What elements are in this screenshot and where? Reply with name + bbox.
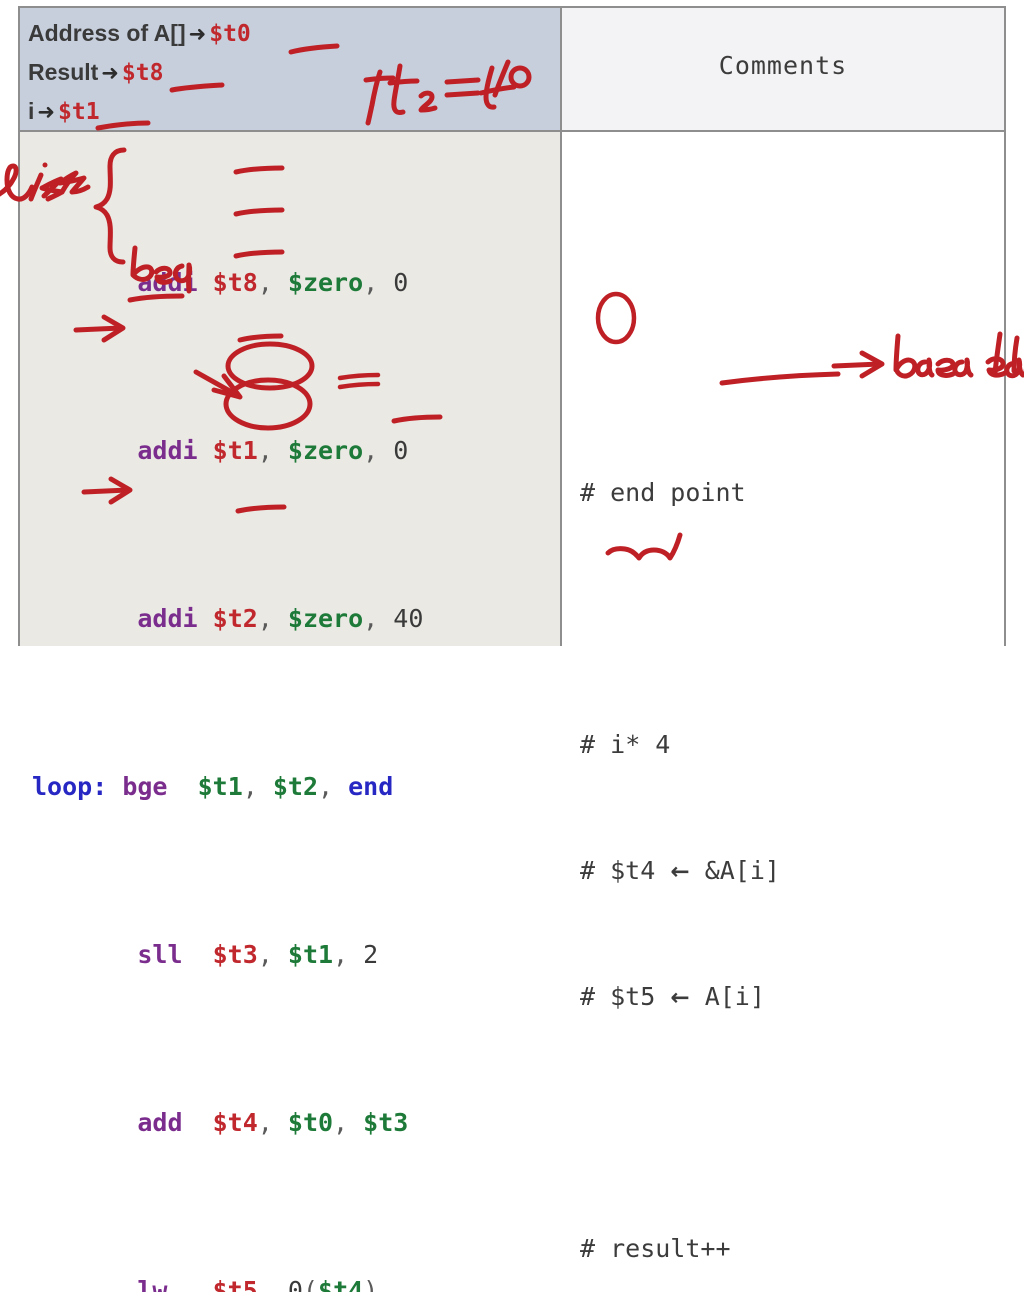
code-line-2: addi $t2, $zero, 40 [32, 598, 453, 640]
code-line-6: lw $t5, 0($t4) [32, 1270, 453, 1292]
comments-header-cell: Comments [562, 8, 1004, 130]
branch-target: end [348, 772, 393, 801]
code-label: loop: [32, 772, 107, 801]
register-legend: Address of A[]➜$t0 Result➜$t8 i➜$t1 [28, 14, 251, 131]
source-register: $zero [288, 604, 363, 633]
comment-spacer [580, 346, 780, 388]
table-body-row: addi $t8, $zero, 0 addi $t1, $zero, 0 ad… [20, 132, 1004, 646]
comment-spacer [580, 220, 780, 262]
legend-reg-2: $t1 [58, 99, 100, 125]
source-register: $zero [288, 268, 363, 297]
dest-register: $t4 [213, 1108, 258, 1137]
opcode: addi [137, 436, 197, 465]
opcode: add [137, 1108, 182, 1137]
dest-register: $t8 [213, 268, 258, 297]
immediate: 0 [393, 436, 408, 465]
dest-register: $t5 [213, 1276, 258, 1292]
legend-reg-1: $t8 [122, 60, 164, 86]
code-line-5: add $t4, $t0, $t3 [32, 1102, 453, 1144]
comment-addr-expr: &A[i] [705, 856, 780, 885]
right-arrow-icon: ➜ [34, 100, 58, 124]
comments-cell: # end point # i* 4 # $t4 ← &A[i] # $t5 ←… [562, 132, 1004, 646]
assembly-code-listing: addi $t8, $zero, 0 addi $t1, $zero, 0 ad… [32, 136, 453, 1292]
source-register: $t4 [318, 1276, 363, 1292]
comments-column-title: Comments [562, 51, 1004, 80]
comment-spacer [580, 1102, 780, 1144]
dest-register: $t3 [213, 940, 258, 969]
slide-canvas: Address of A[]➜$t0 Result➜$t8 i➜$t1 Comm… [0, 0, 1024, 646]
code-line-0: addi $t8, $zero, 0 [32, 262, 453, 304]
comment-hash: # [580, 730, 595, 759]
immediate: 2 [363, 940, 378, 969]
register-legend-row-1: Result➜$t8 [28, 53, 251, 92]
comment-value-expr: A[i] [705, 982, 765, 1011]
left-arrow-icon: ← [670, 985, 689, 1011]
opcode: bge [122, 772, 167, 801]
opcode: addi [137, 604, 197, 633]
register-legend-row-0: Address of A[]➜$t0 [28, 14, 251, 53]
right-arrow-icon: ➜ [186, 22, 210, 46]
source-register: $t1 [198, 772, 243, 801]
immediate: 40 [393, 604, 423, 633]
table-header-row: Address of A[]➜$t0 Result➜$t8 i➜$t1 Comm… [20, 8, 1004, 132]
code-line-3: loop: bge $t1, $t2, end [32, 766, 453, 808]
comment-end-point: # end point [580, 472, 780, 514]
code-line-4: sll $t3, $t1, 2 [32, 934, 453, 976]
comment-t5-assign: # $t5 ← A[i] [580, 976, 780, 1018]
immediate: 0 [393, 268, 408, 297]
legend-reg-0: $t0 [209, 21, 251, 47]
comment-t4-assign: # $t4 ← &A[i] [580, 850, 780, 892]
comments-listing: # end point # i* 4 # $t4 ← &A[i] # $t5 ←… [580, 136, 780, 1292]
dest-register: $t2 [213, 604, 258, 633]
legend-name-0: Address of A[] [28, 20, 186, 46]
comment-spacer [580, 598, 780, 640]
left-arrow-icon: ← [670, 859, 689, 885]
dest-register: $t1 [213, 436, 258, 465]
register-legend-row-2: i➜$t1 [28, 92, 251, 131]
source-register: $t1 [288, 940, 333, 969]
comment-var-i: i [610, 730, 625, 759]
code-line-1: addi $t1, $zero, 0 [32, 430, 453, 472]
register-legend-cell: Address of A[]➜$t0 Result➜$t8 i➜$t1 [20, 8, 562, 130]
source-register: $t2 [273, 772, 318, 801]
immediate: 0 [288, 1276, 303, 1292]
source-register: $zero [288, 436, 363, 465]
opcode: addi [137, 268, 197, 297]
comment-result-inc: # result++ [580, 1228, 780, 1270]
opcode: lw [137, 1276, 167, 1292]
assembly-table: Address of A[]➜$t0 Result➜$t8 i➜$t1 Comm… [18, 6, 1006, 646]
legend-name-1: Result [28, 59, 98, 85]
source-register: $t3 [363, 1108, 408, 1137]
opcode: sll [137, 940, 182, 969]
comment-i-times-4: # i* 4 [580, 724, 780, 766]
source-register: $t0 [288, 1108, 333, 1137]
right-arrow-icon: ➜ [98, 61, 122, 85]
code-cell: addi $t8, $zero, 0 addi $t1, $zero, 0 ad… [20, 132, 562, 646]
